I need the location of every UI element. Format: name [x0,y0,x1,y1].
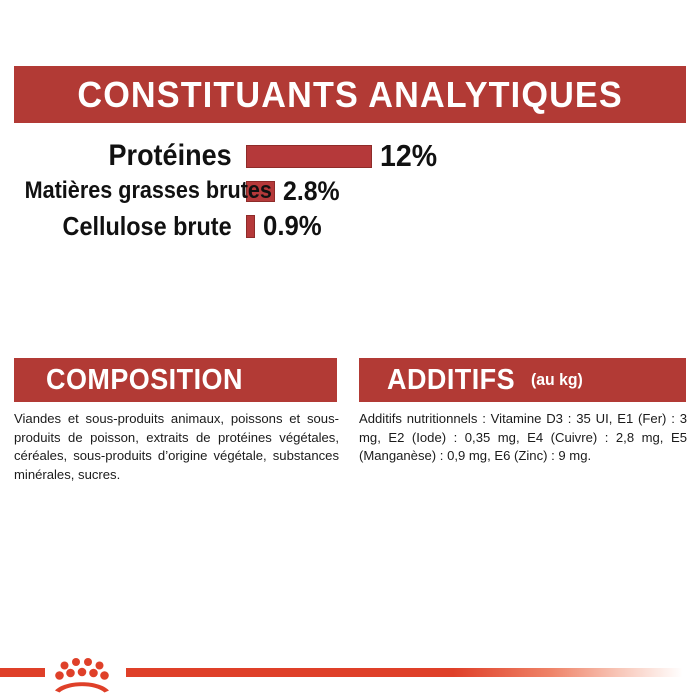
nutrient-label-matieres-grasses-brutes: Matières grasses brutes [25,177,246,205]
additifs-title: ADDITIFS [387,364,515,397]
nutrient-bar-cellulose-brute [246,215,255,238]
nutrient-value-proteines: 12% [380,138,437,174]
analytical-constituents-banner: CONSTITUANTS ANALYTIQUES [14,66,686,123]
additifs-text: Additifs nutritionnels : Vitamine D3 : 3… [359,410,687,466]
footer [0,655,700,700]
nutrient-value-cellulose-brute: 0.9% [263,210,322,242]
nutrition-panel: CONSTITUANTS ANALYTIQUES Protéines 12% M… [0,0,700,700]
composition-text: Viandes et sous-produits animaux, poisso… [14,410,339,484]
nutrient-value-matieres-grasses-brutes: 2.8% [283,176,340,207]
additifs-banner: ADDITIFS (au kg) [359,358,686,402]
royal-canin-crown-logo-icon [47,655,119,697]
footer-rule-left [0,668,45,677]
additifs-title-suffix: (au kg) [531,370,583,390]
nutrient-row: Protéines 12% [0,140,700,172]
nutrient-bar-chart: Protéines 12% Matières grasses brutes 2.… [0,140,700,245]
composition-banner: COMPOSITION [14,358,337,402]
footer-rule-right [126,668,700,677]
nutrient-row: Cellulose brute 0.9% [0,210,700,242]
nutrient-bar-proteines [246,145,372,168]
nutrient-row: Matières grasses brutes 2.8% [0,175,700,207]
nutrient-label-proteines: Protéines [25,139,246,173]
analytical-constituents-title: CONSTITUANTS ANALYTIQUES [77,74,622,116]
nutrient-label-cellulose-brute: Cellulose brute [25,211,246,242]
composition-title: COMPOSITION [46,364,243,397]
